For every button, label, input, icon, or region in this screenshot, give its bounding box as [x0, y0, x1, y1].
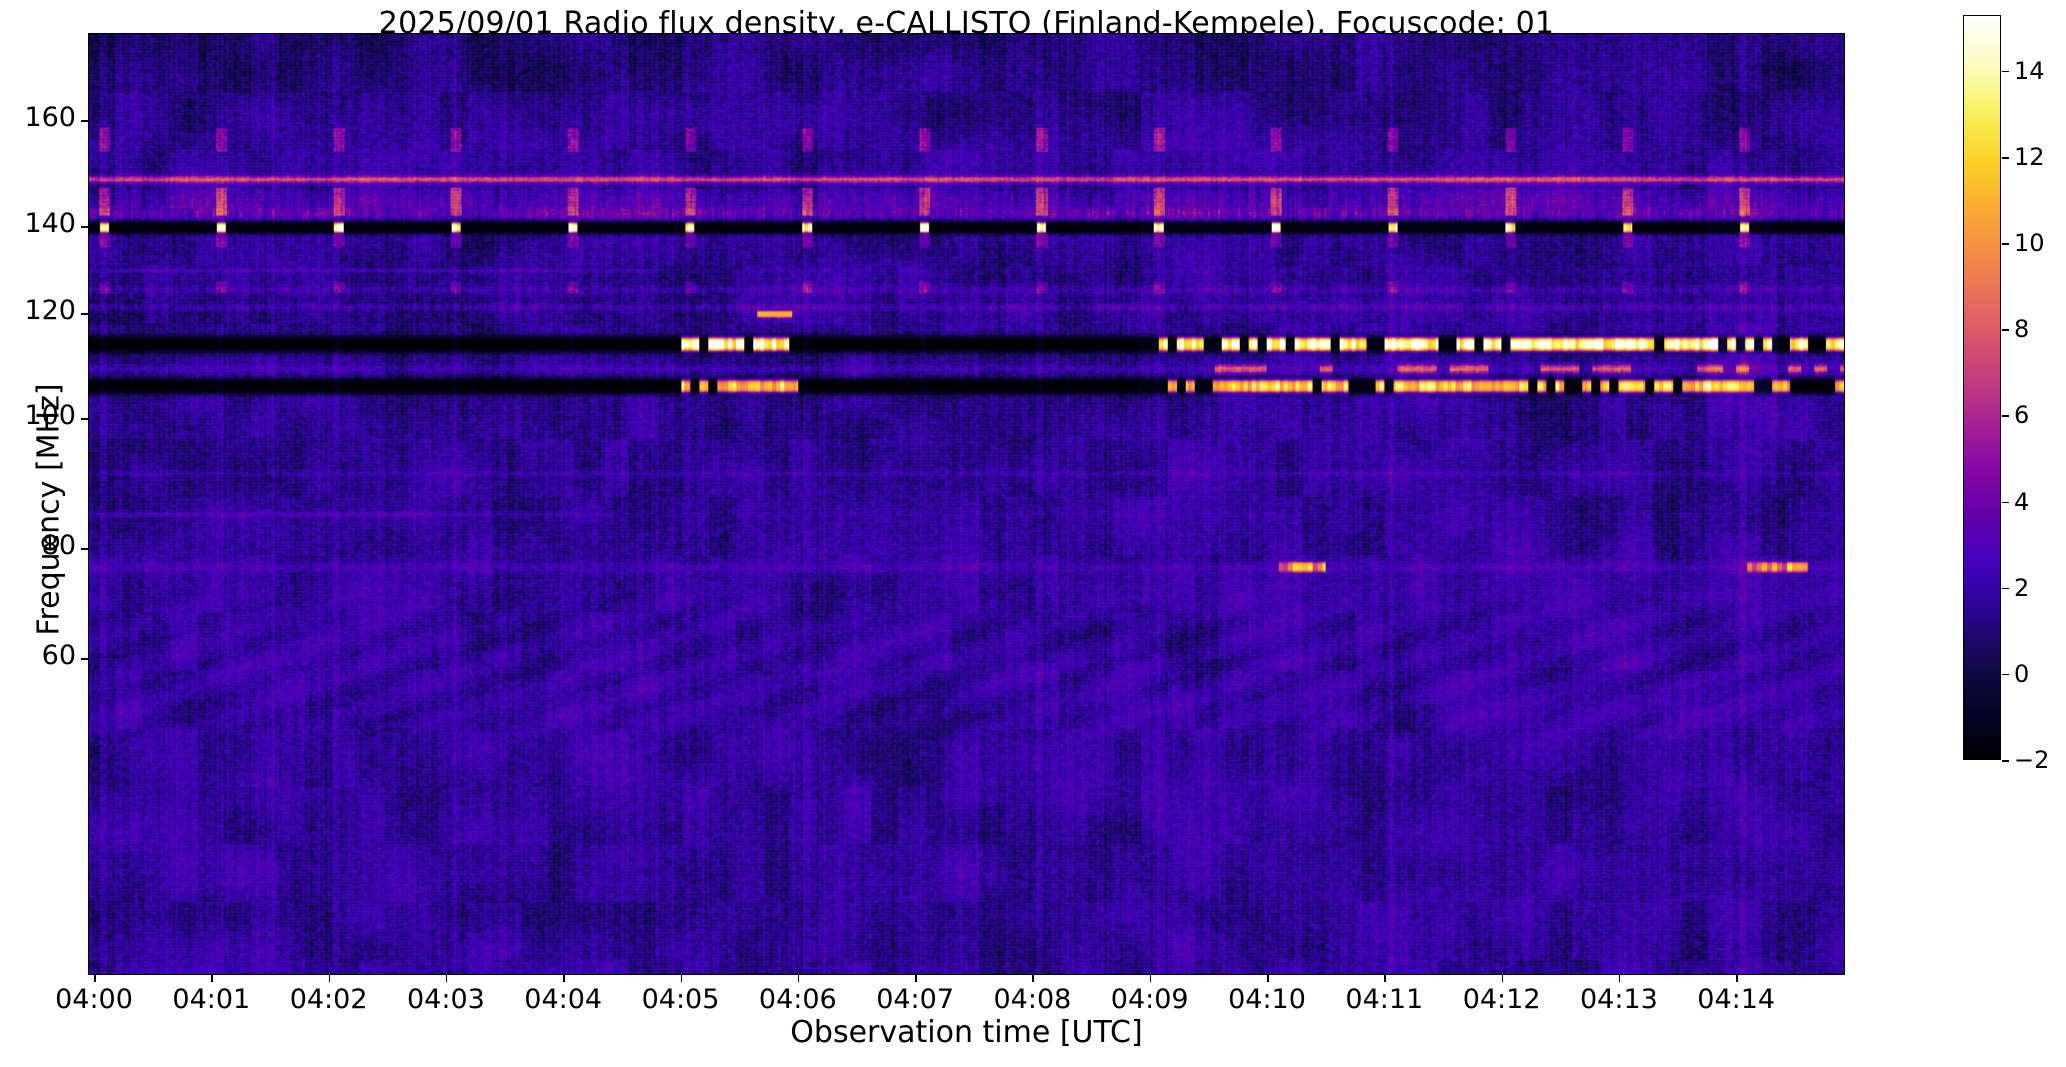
y-tick-label: 100 [14, 400, 76, 431]
spectrogram-image [89, 34, 1844, 974]
colorbar-tick-mark [2002, 588, 2009, 590]
colorbar-tick-label: 12 [2014, 143, 2045, 171]
y-tick-label: 160 [14, 102, 76, 133]
x-tick-label: 04:03 [407, 984, 485, 1015]
x-tick-label: 04:06 [759, 984, 837, 1015]
x-tick-mark [1384, 975, 1386, 982]
x-tick-mark [563, 975, 565, 982]
y-tick-mark [81, 226, 88, 228]
colorbar-tick-mark [2002, 71, 2009, 73]
colorbar-tick-label: 10 [2014, 229, 2045, 257]
x-tick-label: 04:13 [1580, 984, 1658, 1015]
y-tick-label: 60 [14, 640, 76, 671]
x-tick-mark [1502, 975, 1504, 982]
x-tick-mark [1619, 975, 1621, 982]
y-tick-label: 140 [14, 208, 76, 239]
x-tick-label: 04:01 [172, 984, 250, 1015]
colorbar [1963, 15, 2001, 760]
spectrogram-plot-area [88, 33, 1845, 975]
x-tick-mark [94, 975, 96, 982]
colorbar-gradient [1964, 16, 2000, 759]
colorbar-tick-mark [2002, 243, 2009, 245]
colorbar-tick-label: 4 [2014, 488, 2029, 516]
x-tick-label: 04:02 [290, 984, 368, 1015]
x-tick-label: 04:09 [1111, 984, 1189, 1015]
colorbar-tick-mark [2002, 157, 2009, 159]
x-axis-title: Observation time [UTC] [88, 1015, 1845, 1050]
colorbar-tick-label: 8 [2014, 315, 2029, 343]
y-tick-mark [81, 658, 88, 660]
x-tick-label: 04:04 [524, 984, 602, 1015]
y-tick-mark [81, 313, 88, 315]
x-tick-mark [1032, 975, 1034, 982]
y-tick-label: 120 [14, 295, 76, 326]
x-tick-mark [798, 975, 800, 982]
x-tick-mark [915, 975, 917, 982]
colorbar-tick-mark [2002, 760, 2009, 762]
x-tick-mark [681, 975, 683, 982]
x-tick-label: 04:11 [1345, 984, 1423, 1015]
x-tick-mark [211, 975, 213, 982]
colorbar-tick-label: 0 [2014, 660, 2029, 688]
y-axis-title: Frequency [MHz] [32, 275, 67, 745]
x-tick-mark [1267, 975, 1269, 982]
colorbar-tick-label: 14 [2014, 57, 2045, 85]
x-tick-mark [329, 975, 331, 982]
colorbar-tick-mark [2002, 329, 2009, 331]
y-tick-label: 80 [14, 530, 76, 561]
colorbar-tick-label: 2 [2014, 574, 2029, 602]
x-tick-label: 04:05 [642, 984, 720, 1015]
y-tick-mark [81, 120, 88, 122]
colorbar-tick-label: −2 [2014, 746, 2049, 774]
x-tick-label: 04:10 [1228, 984, 1306, 1015]
x-tick-mark [1150, 975, 1152, 982]
x-tick-label: 04:07 [876, 984, 954, 1015]
y-tick-mark [81, 548, 88, 550]
x-tick-label: 04:14 [1697, 984, 1775, 1015]
x-tick-mark [1736, 975, 1738, 982]
colorbar-tick-mark [2002, 674, 2009, 676]
x-tick-label: 04:12 [1463, 984, 1541, 1015]
colorbar-tick-mark [2002, 502, 2009, 504]
spectrogram-figure: 2025/09/01 Radio flux density, e-CALLIST… [0, 0, 2066, 1067]
y-tick-mark [81, 418, 88, 420]
x-tick-label: 04:08 [993, 984, 1071, 1015]
x-tick-label: 04:00 [55, 984, 133, 1015]
x-tick-mark [446, 975, 448, 982]
colorbar-tick-mark [2002, 415, 2009, 417]
colorbar-tick-label: 6 [2014, 401, 2029, 429]
